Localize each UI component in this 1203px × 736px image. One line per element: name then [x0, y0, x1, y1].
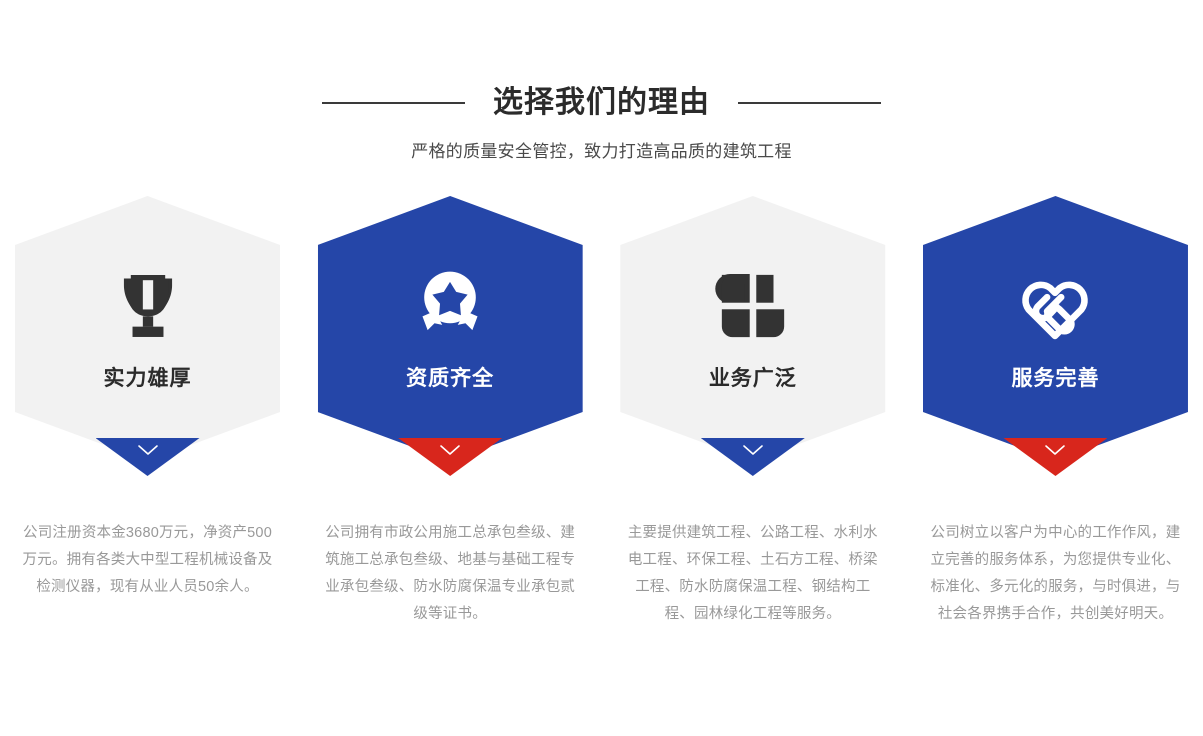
card-label: 实力雄厚 — [104, 364, 192, 394]
card-expand-tab[interactable] — [701, 438, 805, 476]
hexagon-wrapper: 实力雄厚 — [15, 196, 280, 484]
hexagon-wrapper: 业务广泛 — [620, 196, 885, 484]
reasons-section: 选择我们的理由 严格的质量安全管控，致力打造高品质的建筑工程 — [0, 0, 1203, 736]
hexagon-shape: 业务广泛 — [620, 196, 885, 461]
hexagon-shape: 资质齐全 — [318, 196, 583, 461]
feature-card[interactable]: 实力雄厚 — [6, 196, 289, 484]
page-title: 选择我们的理由 — [493, 83, 710, 123]
trophy-icon — [100, 258, 196, 354]
description-list: 公司注册资本金3680万元，净资产500万元。拥有各类大中型工程机械设备及检测仪… — [0, 520, 1203, 628]
card-list: 实力雄厚 — [0, 196, 1203, 484]
card-expand-tab[interactable] — [398, 438, 502, 476]
chevron-down-icon — [1044, 444, 1066, 457]
four-petal-clover-icon — [705, 258, 801, 354]
chevron-down-icon — [439, 444, 461, 457]
hexagon-shape: 服务完善 — [923, 196, 1188, 461]
hexagon-wrapper: 资质齐全 — [318, 196, 583, 484]
handshake-heart-icon — [1007, 258, 1103, 354]
card-expand-tab[interactable] — [96, 438, 200, 476]
card-label: 业务广泛 — [709, 364, 797, 394]
chevron-down-icon — [742, 444, 764, 457]
hexagon-shape: 实力雄厚 — [15, 196, 280, 461]
title-rule-right — [738, 102, 881, 104]
chevron-down-icon — [137, 444, 159, 457]
card-description: 主要提供建筑工程、公路工程、水利水电工程、环保工程、土石方工程、桥梁工程、防水防… — [611, 520, 894, 628]
card-label: 服务完善 — [1011, 364, 1099, 394]
title-row: 选择我们的理由 — [0, 80, 1203, 126]
card-label: 资质齐全 — [406, 364, 494, 394]
section-header: 选择我们的理由 严格的质量安全管控，致力打造高品质的建筑工程 — [0, 80, 1203, 164]
title-rule-left — [322, 102, 465, 104]
card-expand-tab[interactable] — [1003, 438, 1107, 476]
feature-card[interactable]: 资质齐全 — [309, 196, 592, 484]
card-description: 公司拥有市政公用施工总承包叁级、建筑施工总承包叁级、地基与基础工程专业承包叁级、… — [309, 520, 592, 628]
card-description: 公司注册资本金3680万元，净资产500万元。拥有各类大中型工程机械设备及检测仪… — [6, 520, 289, 628]
card-description: 公司树立以客户为中心的工作作风，建立完善的服务体系，为您提供专业化、标准化、多元… — [914, 520, 1197, 628]
feature-card[interactable]: 业务广泛 — [611, 196, 894, 484]
hexagon-wrapper: 服务完善 — [923, 196, 1188, 484]
feature-card[interactable]: 服务完善 — [914, 196, 1197, 484]
medal-star-icon — [402, 258, 498, 354]
page-subtitle: 严格的质量安全管控，致力打造高品质的建筑工程 — [0, 140, 1203, 164]
